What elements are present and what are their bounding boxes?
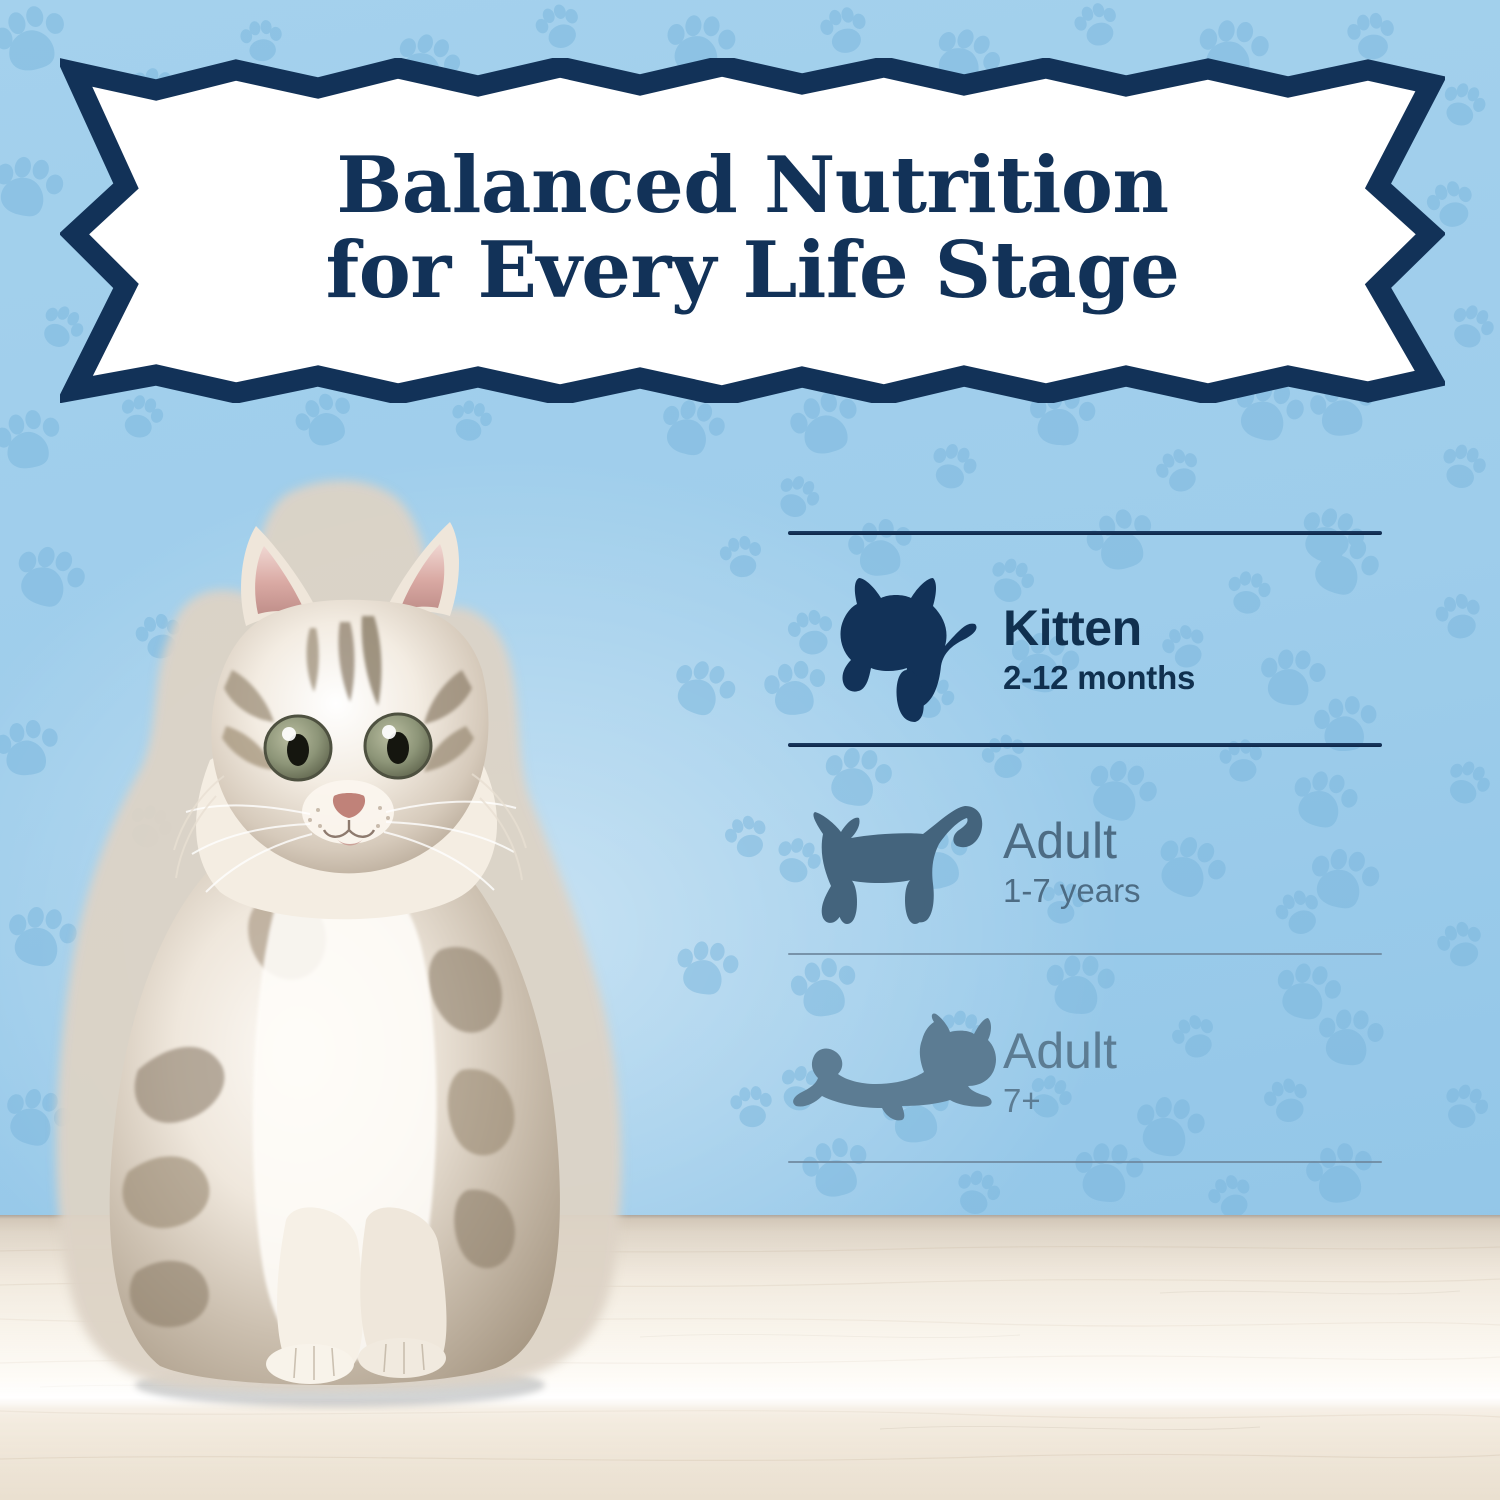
divider-adult-senior: [788, 953, 1382, 955]
stage-title-senior: Adult: [1003, 1026, 1388, 1076]
stage-copy-kitten: Kitten 2-12 months: [1003, 603, 1388, 696]
kitten-hero-photo: [10, 430, 710, 1440]
stage-age-adult: 1-7 years: [1003, 874, 1388, 909]
stage-row-senior[interactable]: Adult 7+: [788, 988, 1388, 1156]
life-stage-list: Kitten 2-12 months Adult 1-7 years: [788, 520, 1388, 1180]
senior-cat-lying-silhouette-icon: [788, 1012, 1003, 1132]
headline-line-1: Balanced Nutrition: [60, 144, 1445, 228]
headline-banner: Balanced Nutrition for Every Life Stage: [60, 58, 1445, 403]
stage-age-senior: 7+: [1003, 1084, 1388, 1119]
divider-top: [788, 531, 1382, 535]
stage-copy-senior: Adult 7+: [1003, 1026, 1388, 1119]
headline-line-2: for Every Life Stage: [60, 228, 1445, 314]
stage-age-kitten: 2-12 months: [1003, 661, 1388, 696]
stage-title-adult: Adult: [1003, 816, 1388, 866]
divider-bottom: [788, 1161, 1382, 1163]
stage-row-kitten[interactable]: Kitten 2-12 months: [788, 565, 1388, 733]
kitten-standing-silhouette-icon: [788, 574, 1003, 724]
adult-cat-standing-silhouette-icon: [788, 792, 1003, 932]
stage-copy-adult: Adult 1-7 years: [1003, 816, 1388, 909]
divider-kitten-adult: [788, 743, 1382, 747]
banner-text-block: Balanced Nutrition for Every Life Stage: [60, 144, 1445, 314]
stage-row-adult[interactable]: Adult 1-7 years: [788, 778, 1388, 946]
poster-canvas: Balanced Nutrition for Every Life Stage …: [0, 0, 1500, 1500]
stage-title-kitten: Kitten: [1003, 603, 1388, 653]
